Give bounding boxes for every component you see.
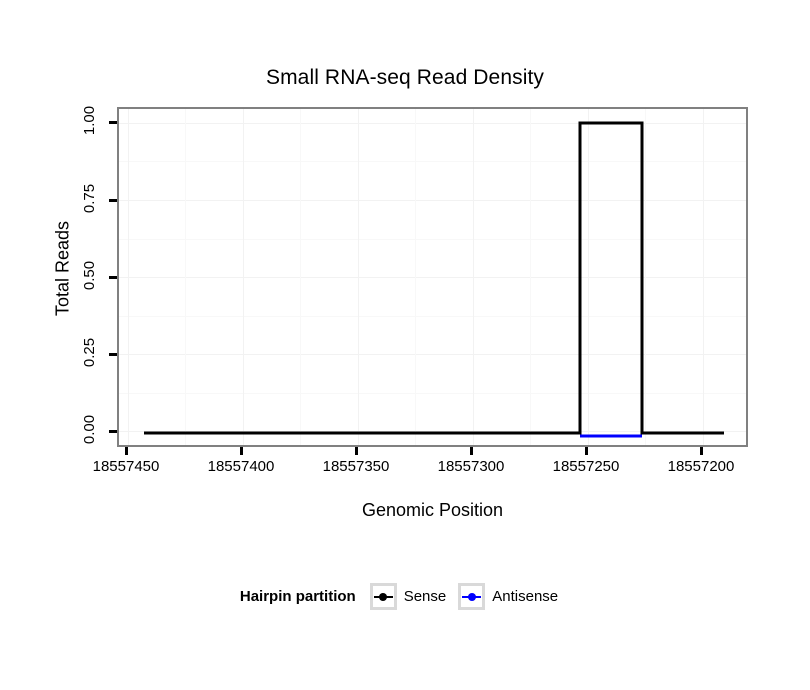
x-axis-title: Genomic Position [117, 500, 748, 521]
tick-x-0 [125, 447, 128, 455]
ticklabel-y-4-text: 1.00 [81, 106, 98, 135]
legend-key-dot-sense [379, 593, 387, 601]
legend-key-dot-antisense [468, 593, 476, 601]
ticklabel-y-0-text: 0.00 [81, 415, 98, 444]
ticklabel-x-5: 18557200 [631, 458, 771, 475]
legend: Hairpin partition Sense Antisense [0, 583, 810, 610]
legend-item-sense[interactable]: Sense [370, 583, 447, 610]
tick-y-1 [109, 353, 117, 356]
tick-y-2 [109, 276, 117, 279]
series-sense-line [144, 123, 724, 433]
legend-title: Hairpin partition [240, 588, 356, 605]
tick-y-0 [109, 430, 117, 433]
tick-x-2 [355, 447, 358, 455]
tick-y-3 [109, 199, 117, 202]
tick-x-3 [470, 447, 473, 455]
chart-title: Small RNA-seq Read Density [0, 66, 810, 90]
tick-y-4 [109, 121, 117, 124]
tick-x-4 [585, 447, 588, 455]
plot-panel [117, 107, 748, 447]
ticklabel-y-2-text: 0.50 [81, 261, 98, 290]
tick-x-5 [700, 447, 703, 455]
y-axis-title: Total Reads [53, 99, 74, 439]
ticklabel-y-3-text: 0.75 [81, 184, 98, 213]
legend-item-antisense[interactable]: Antisense [458, 583, 558, 610]
plot-area [119, 109, 746, 445]
legend-key-sense [370, 583, 397, 610]
tick-x-1 [240, 447, 243, 455]
legend-label-sense: Sense [404, 588, 447, 605]
ticklabel-y-1-text: 0.25 [81, 338, 98, 367]
legend-label-antisense: Antisense [492, 588, 558, 605]
series-layer [119, 109, 746, 445]
chart-container: Small RNA-seq Read Density [0, 0, 810, 690]
series-svg [119, 109, 746, 445]
legend-key-antisense [458, 583, 485, 610]
